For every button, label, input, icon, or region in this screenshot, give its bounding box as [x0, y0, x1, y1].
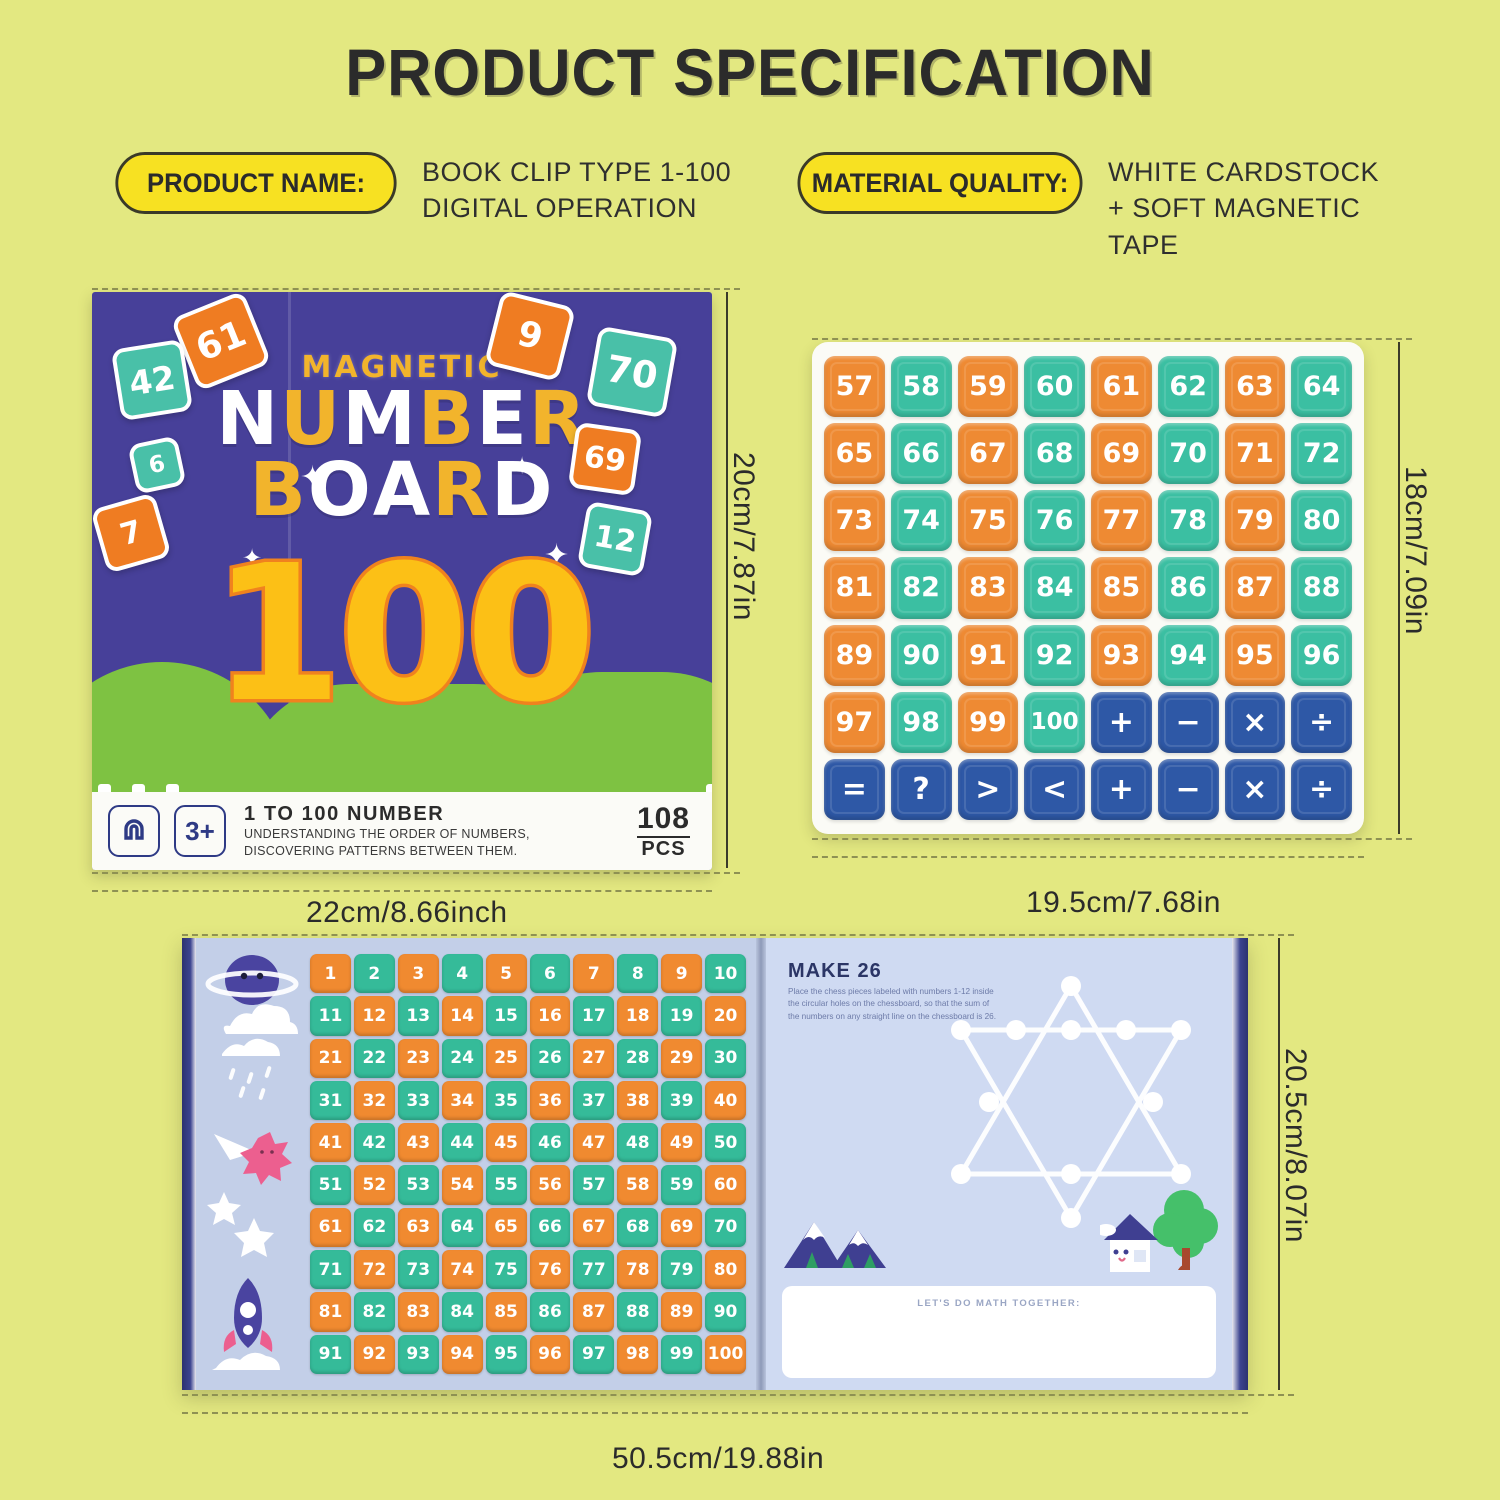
hundred-grid-tile[interactable]: 1 [310, 954, 351, 993]
hundred-grid-tile[interactable]: 89 [661, 1292, 702, 1331]
hundred-grid-tile[interactable]: 86 [530, 1292, 571, 1331]
board-tile[interactable]: 68 [1024, 423, 1085, 484]
hundred-grid-tile[interactable]: 3 [398, 954, 439, 993]
hundred-grid-tile[interactable]: 38 [617, 1081, 658, 1120]
guide-line [92, 288, 740, 290]
hundred-grid-tile[interactable]: 75 [486, 1250, 527, 1289]
hundred-grid-tile[interactable]: 35 [486, 1081, 527, 1120]
hundred-grid-tile[interactable]: 91 [310, 1335, 351, 1374]
cover-description-sub: UNDERSTANDING THE ORDER OF NUMBERS, DISC… [244, 826, 623, 860]
book-spine [756, 938, 766, 1390]
book-edge-right [1232, 938, 1248, 1390]
board-tile[interactable]: 74 [891, 490, 952, 551]
board-tile[interactable]: 77 [1091, 490, 1152, 551]
board-tile[interactable]: 98 [891, 692, 952, 753]
hundred-grid-tile[interactable]: 96 [530, 1335, 571, 1374]
board-width-dimension: 19.5cm/7.68in [1026, 886, 1221, 920]
writing-area[interactable]: LET'S DO MATH TOGETHER: [782, 1286, 1216, 1378]
number-board-tiles[interactable]: 5758596061626364656667686970717273747576… [812, 342, 1364, 834]
board-tile[interactable]: 63 [1225, 356, 1286, 417]
hundred-grid-tile[interactable]: 24 [442, 1039, 483, 1078]
activity-heading: MAKE 26 [788, 960, 882, 983]
spec-label-material-quality: MATERIAL QUALITY: [798, 152, 1083, 214]
board-tile[interactable]: 67 [958, 423, 1019, 484]
wordmark-letter: B [418, 384, 476, 455]
hundred-grid-tile[interactable]: 12 [354, 996, 395, 1035]
board-tile[interactable]: < [1024, 759, 1085, 820]
hundred-grid-tile[interactable]: 92 [354, 1335, 395, 1374]
hundred-grid-tile[interactable]: 84 [442, 1292, 483, 1331]
hundred-grid-tile[interactable]: 56 [530, 1165, 571, 1204]
board-tile[interactable]: ? [891, 759, 952, 820]
hundred-grid-tile[interactable]: 78 [617, 1250, 658, 1289]
board-tile[interactable]: 66 [891, 423, 952, 484]
hundred-grid-tile[interactable]: 30 [705, 1039, 746, 1078]
hundred-grid-tile[interactable]: 2 [354, 954, 395, 993]
guide-line [812, 856, 1364, 858]
hundred-grid-tile[interactable]: 41 [310, 1123, 351, 1162]
hundred-grid-tile[interactable]: 90 [705, 1292, 746, 1331]
hundred-grid-tile[interactable]: 60 [705, 1165, 746, 1204]
hundred-grid-tile[interactable]: 49 [661, 1123, 702, 1162]
hundred-grid-tile[interactable]: 70 [705, 1208, 746, 1247]
cover-tile: 6 [127, 435, 186, 494]
openbook-width-dimension: 50.5cm/19.88in [612, 1442, 824, 1476]
board-tile[interactable]: 97 [824, 692, 885, 753]
hundred-grid-tile[interactable]: 14 [442, 996, 483, 1035]
board-tile[interactable]: 65 [824, 423, 885, 484]
hundred-grid-tile[interactable]: 57 [573, 1165, 614, 1204]
hundred-grid-tile[interactable]: 82 [354, 1292, 395, 1331]
board-tile[interactable]: 72 [1291, 423, 1352, 484]
board-tile[interactable]: 75 [958, 490, 1019, 551]
hundred-grid-tile[interactable]: 4 [442, 954, 483, 993]
board-tile[interactable]: 79 [1225, 490, 1286, 551]
board-tile[interactable]: × [1225, 692, 1286, 753]
hundred-grid-tile[interactable]: 52 [354, 1165, 395, 1204]
hundred-grid-tile[interactable]: 48 [617, 1123, 658, 1162]
board-tile[interactable]: 64 [1291, 356, 1352, 417]
hundred-grid-tile[interactable]: 50 [705, 1123, 746, 1162]
guide-line [182, 1412, 1248, 1414]
board-tile[interactable]: 69 [1091, 423, 1152, 484]
spec-value-product-name: BOOK CLIP TYPE 1-100 DIGITAL OPERATION [422, 148, 731, 227]
cover-description-heading: 1 TO 100 NUMBER [244, 803, 623, 826]
wordmark-letter: E [476, 384, 529, 455]
board-tile[interactable]: 94 [1158, 625, 1219, 686]
hundred-grid-tile[interactable]: 65 [486, 1208, 527, 1247]
wordmark-letter: R [432, 455, 491, 526]
book-page-left: 1234567891011121314151617181920212223242… [196, 938, 756, 1390]
board-tile[interactable]: > [958, 759, 1019, 820]
hundred-grid-tile[interactable]: 46 [530, 1123, 571, 1162]
board-tile[interactable]: ÷ [1291, 692, 1352, 753]
board-tile[interactable]: 100 [1024, 692, 1085, 753]
cover-tile: 69 [568, 422, 643, 497]
hundred-grid-tile[interactable]: 63 [398, 1208, 439, 1247]
hundred-grid-tile[interactable]: 34 [442, 1081, 483, 1120]
hundred-grid-tile[interactable]: 25 [486, 1039, 527, 1078]
board-tile[interactable]: 59 [958, 356, 1019, 417]
cover-width-dimension: 22cm/8.66inch [306, 896, 508, 930]
hundred-grid-tile[interactable]: 71 [310, 1250, 351, 1289]
hundred-grid-tile[interactable]: 83 [398, 1292, 439, 1331]
hundred-grid-tile[interactable]: 39 [661, 1081, 702, 1120]
hundred-grid-tile[interactable]: 45 [486, 1123, 527, 1162]
space-decor-strip [196, 938, 308, 1390]
hundred-grid-tile[interactable]: 5 [486, 954, 527, 993]
guide-line [182, 1394, 1294, 1396]
board-tile[interactable]: 87 [1225, 557, 1286, 618]
hundred-grid-tile[interactable]: 95 [486, 1335, 527, 1374]
board-tile[interactable]: 81 [824, 557, 885, 618]
hundred-grid[interactable]: 1234567891011121314151617181920212223242… [310, 954, 746, 1374]
piece-count-label: PCS [637, 836, 690, 861]
board-tile[interactable]: 73 [824, 490, 885, 551]
hundred-grid-tile[interactable]: 74 [442, 1250, 483, 1289]
hundred-grid-tile[interactable]: 76 [530, 1250, 571, 1289]
board-tile[interactable]: 60 [1024, 356, 1085, 417]
cover-tile: 70 [586, 326, 679, 419]
board-tile[interactable]: 82 [891, 557, 952, 618]
board-tile[interactable]: 99 [958, 692, 1019, 753]
board-tile[interactable]: 70 [1158, 423, 1219, 484]
board-tile[interactable]: 92 [1024, 625, 1085, 686]
guide-line [182, 934, 1294, 936]
book-page-right: MAKE 26 Place the chess pieces labeled w… [766, 938, 1232, 1390]
board-tile[interactable]: 93 [1091, 625, 1152, 686]
hundred-grid-tile[interactable]: 85 [486, 1292, 527, 1331]
age-badge: 3+ [174, 805, 226, 857]
hundred-grid-tile[interactable]: 80 [705, 1250, 746, 1289]
hundred-grid-tile[interactable]: 93 [398, 1335, 439, 1374]
board-tile[interactable]: 80 [1291, 490, 1352, 551]
product-photo-openbook: 1234567891011121314151617181920212223242… [182, 938, 1248, 1390]
board-tile[interactable]: 91 [958, 625, 1019, 686]
board-tile[interactable]: = [824, 759, 885, 820]
hundred-grid-tile[interactable]: 29 [661, 1039, 702, 1078]
hundred-grid-tile[interactable]: 62 [354, 1208, 395, 1247]
board-tile[interactable]: 78 [1158, 490, 1219, 551]
hundred-grid-tile[interactable]: 20 [705, 996, 746, 1035]
spec-label-product-name: PRODUCT NAME: [115, 152, 396, 214]
board-tile[interactable]: 84 [1024, 557, 1085, 618]
board-tile[interactable]: × [1225, 759, 1286, 820]
hundred-grid-tile[interactable]: 53 [398, 1165, 439, 1204]
board-tile[interactable]: − [1158, 759, 1219, 820]
hundred-grid-tile[interactable]: 27 [573, 1039, 614, 1078]
product-photo-cover: MAGNETIC NUMBER BOARD ✦ ✦ ✦ ✦ 100 614267… [92, 292, 712, 870]
board-tile[interactable]: ÷ [1291, 759, 1352, 820]
hundred-grid-tile[interactable]: 79 [661, 1250, 702, 1289]
hundred-grid-tile[interactable]: 11 [310, 996, 351, 1035]
hundred-grid-tile[interactable]: 94 [442, 1335, 483, 1374]
hundred-grid-tile[interactable]: 51 [310, 1165, 351, 1204]
hundred-grid-tile[interactable]: 72 [354, 1250, 395, 1289]
spec-material-quality: MATERIAL QUALITY: WHITE CARDSTOCK + SOFT… [790, 148, 1408, 263]
hundred-grid-tile[interactable]: 31 [310, 1081, 351, 1120]
mountain-icon [780, 1210, 900, 1272]
hundred-grid-tile[interactable]: 15 [486, 996, 527, 1035]
wordmark-letter: N [216, 384, 280, 455]
board-tile[interactable]: 61 [1091, 356, 1152, 417]
page-title: PRODUCT SPECIFICATION [53, 34, 1448, 110]
cover-footer: 3+ 1 TO 100 NUMBER UNDERSTANDING THE ORD… [92, 792, 712, 870]
wordmark-letter: M [342, 384, 418, 455]
guide-line [92, 872, 740, 874]
hundred-grid-tile[interactable]: 33 [398, 1081, 439, 1120]
hundred-grid-tile[interactable]: 87 [573, 1292, 614, 1331]
hundred-grid-tile[interactable]: 28 [617, 1039, 658, 1078]
hundred-grid-tile[interactable]: 19 [661, 996, 702, 1035]
writing-area-caption: LET'S DO MATH TOGETHER: [782, 1298, 1216, 1309]
piece-count: 108 PCS [637, 802, 696, 861]
hundred-grid-tile[interactable]: 43 [398, 1123, 439, 1162]
hundred-grid-tile[interactable]: 98 [617, 1335, 658, 1374]
board-tile[interactable]: 57 [824, 356, 885, 417]
magnet-icon [108, 805, 160, 857]
hundred-grid-tile[interactable]: 42 [354, 1123, 395, 1162]
hundred-grid-tile[interactable]: 64 [442, 1208, 483, 1247]
cover-hundred: 100 [92, 550, 712, 719]
hundred-grid-tile[interactable]: 23 [398, 1039, 439, 1078]
board-tile[interactable]: 83 [958, 557, 1019, 618]
board-tile[interactable]: 95 [1225, 625, 1286, 686]
piece-count-number: 108 [637, 802, 690, 836]
hundred-grid-tile[interactable]: 37 [573, 1081, 614, 1120]
hundred-grid-tile[interactable]: 67 [573, 1208, 614, 1247]
hundred-grid-tile[interactable]: 32 [354, 1081, 395, 1120]
hundred-grid-tile[interactable]: 6 [530, 954, 571, 993]
board-tile[interactable]: − [1158, 692, 1219, 753]
hundred-grid-tile[interactable]: 66 [530, 1208, 571, 1247]
hundred-grid-tile[interactable]: 61 [310, 1208, 351, 1247]
hundred-grid-tile[interactable]: 7 [573, 954, 614, 993]
hundred-grid-tile[interactable]: 21 [310, 1039, 351, 1078]
board-tile[interactable]: 71 [1225, 423, 1286, 484]
hundred-grid-tile[interactable]: 81 [310, 1292, 351, 1331]
hundred-grid-tile[interactable]: 8 [617, 954, 658, 993]
wordmark-letter: A [373, 455, 432, 526]
hundred-grid-tile[interactable]: 26 [530, 1039, 571, 1078]
house-tree-icon [1100, 1186, 1220, 1278]
spec-row: PRODUCT NAME: BOOK CLIP TYPE 1-100 DIGIT… [108, 148, 1408, 234]
hundred-grid-tile[interactable]: 10 [705, 954, 746, 993]
board-tile[interactable]: 89 [824, 625, 885, 686]
hundred-grid-tile[interactable]: 88 [617, 1292, 658, 1331]
hundred-grid-tile[interactable]: 16 [530, 996, 571, 1035]
hundred-grid-tile[interactable]: 59 [661, 1165, 702, 1204]
hundred-grid-tile[interactable]: 17 [573, 996, 614, 1035]
openbook-height-dimension: 20.5cm/8.07in [1278, 1048, 1312, 1243]
board-tile[interactable]: 85 [1091, 557, 1152, 618]
board-tile[interactable]: 96 [1291, 625, 1352, 686]
hundred-grid-tile[interactable]: 97 [573, 1335, 614, 1374]
guide-line [92, 890, 712, 892]
guide-line [812, 338, 1412, 340]
hundred-grid-tile[interactable]: 40 [705, 1081, 746, 1120]
hundred-grid-tile[interactable]: 22 [354, 1039, 395, 1078]
hundred-grid-tile[interactable]: 100 [705, 1335, 746, 1374]
hundred-grid-tile[interactable]: 44 [442, 1123, 483, 1162]
guide-line [812, 838, 1412, 840]
hundred-grid-tile[interactable]: 77 [573, 1250, 614, 1289]
hundred-grid-tile[interactable]: 58 [617, 1165, 658, 1204]
board-tile[interactable]: + [1091, 759, 1152, 820]
hundred-grid-tile[interactable]: 54 [442, 1165, 483, 1204]
board-height-dimension: 18cm/7.09in [1398, 466, 1432, 635]
hundred-grid-tile[interactable]: 73 [398, 1250, 439, 1289]
cover-description: 1 TO 100 NUMBER UNDERSTANDING THE ORDER … [240, 803, 623, 860]
cover-height-dimension: 20cm/7.87in [726, 452, 760, 621]
hundred-grid-tile[interactable]: 55 [486, 1165, 527, 1204]
hundred-grid-tile[interactable]: 9 [661, 954, 702, 993]
board-tile[interactable]: 86 [1158, 557, 1219, 618]
hundred-grid-tile[interactable]: 13 [398, 996, 439, 1035]
board-tile[interactable]: 62 [1158, 356, 1219, 417]
grass-band [92, 746, 712, 792]
board-tile[interactable]: 58 [891, 356, 952, 417]
board-tile[interactable]: 90 [891, 625, 952, 686]
cover-tile: 12 [577, 501, 653, 577]
wordmark-letter: U [280, 384, 342, 455]
hundred-grid-tile[interactable]: 36 [530, 1081, 571, 1120]
board-tile[interactable]: 76 [1024, 490, 1085, 551]
hundred-grid-tile[interactable]: 69 [661, 1208, 702, 1247]
board-tile[interactable]: 88 [1291, 557, 1352, 618]
book-edge-left [182, 938, 196, 1390]
spec-product-name: PRODUCT NAME: BOOK CLIP TYPE 1-100 DIGIT… [108, 148, 731, 227]
board-tile[interactable]: + [1091, 692, 1152, 753]
cover-tile: 42 [111, 339, 193, 421]
hundred-grid-tile[interactable]: 18 [617, 996, 658, 1035]
product-specification-page: PRODUCT SPECIFICATION PRODUCT NAME: BOOK… [0, 0, 1500, 1500]
hundred-grid-tile[interactable]: 68 [617, 1208, 658, 1247]
hundred-grid-tile[interactable]: 47 [573, 1123, 614, 1162]
spec-value-material-quality: WHITE CARDSTOCK + SOFT MAGNETIC TAPE [1108, 148, 1408, 263]
hundred-grid-tile[interactable]: 99 [661, 1335, 702, 1374]
